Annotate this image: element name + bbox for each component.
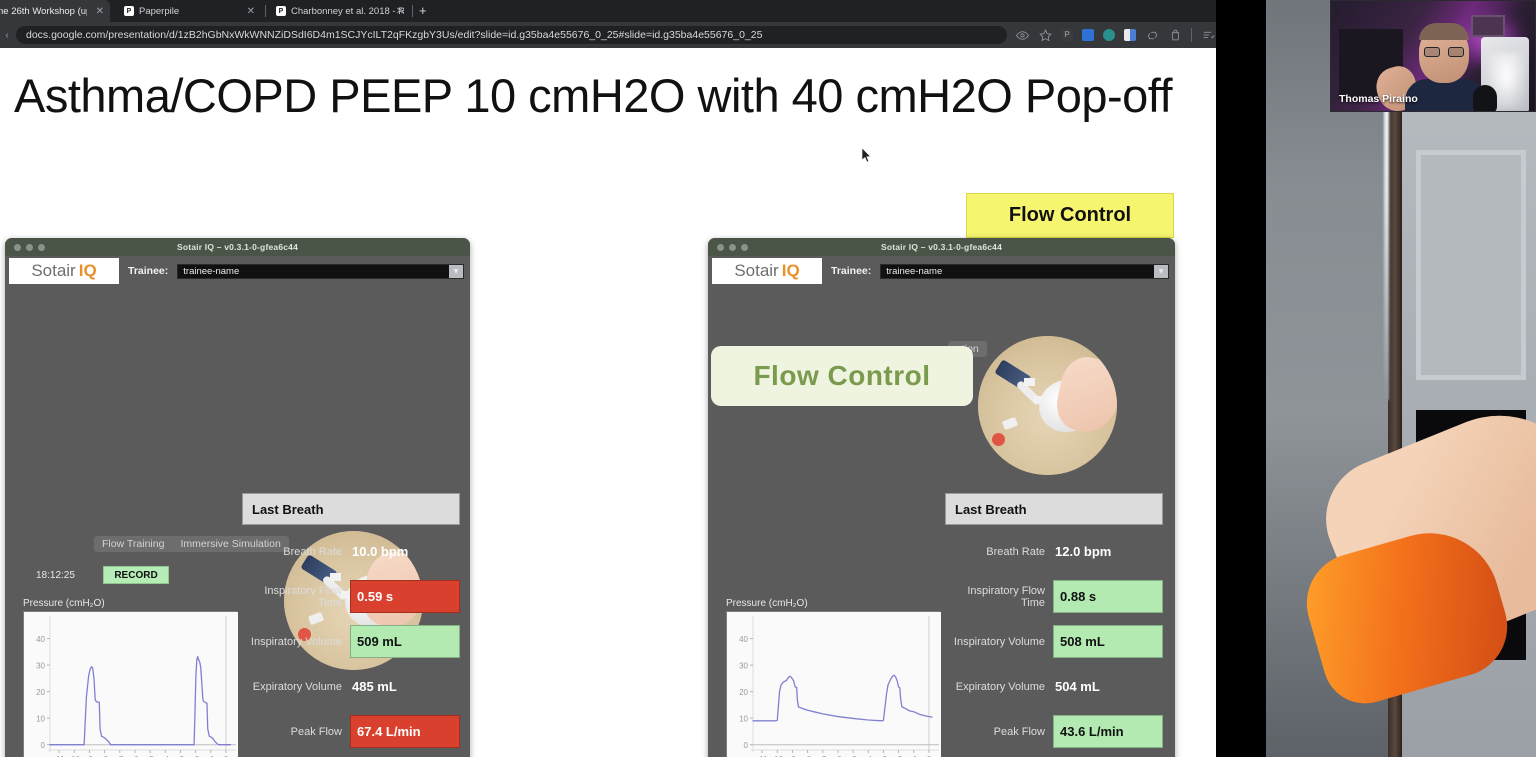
metric-row: Expiratory Volume485 mL — [242, 668, 460, 705]
metric-row: Breath Rate10.0 bpm — [242, 533, 460, 570]
svg-text:10: 10 — [739, 715, 748, 724]
browser-tab-0[interactable]: ne 26th Workshop (update ✕ — [0, 0, 110, 22]
plot-area: 010203040-11-10-9-8-7-6-5-4-3-2-10 — [23, 611, 237, 757]
svg-text:20: 20 — [739, 688, 748, 697]
metric-row: Inspiratory Volume508 mL — [945, 623, 1163, 660]
metric-row: Peak Flow43.6 L/min — [945, 713, 1163, 750]
browser-tab-2[interactable]: P Charbonney et al. 2018 - Res ✕ — [270, 0, 410, 22]
book-extension-icon[interactable] — [1124, 29, 1136, 41]
trainee-label: Trainee: — [831, 265, 871, 277]
pip-lens-left — [1424, 47, 1440, 57]
flow-control-callout: Flow Control — [966, 193, 1174, 238]
pip-wall-frame — [1471, 15, 1505, 37]
chart-left-pressure: Pressure (cmH₂O) 010203040-11-10-9-8-7-6… — [23, 598, 237, 757]
metrics-list: Breath Rate12.0 bpmInspiratory Flow Time… — [945, 533, 1163, 757]
metric-label: Peak Flow — [242, 726, 350, 738]
metric-value: 0.88 s — [1053, 580, 1163, 613]
trainee-value: trainee-name — [183, 266, 239, 277]
pip-lens-right — [1448, 47, 1464, 57]
app-toolbar: Sotair IQ Trainee: trainee-name ▾ — [708, 256, 1175, 286]
teal-extension-icon[interactable] — [1103, 29, 1115, 41]
panel-title: Last Breath — [945, 493, 1163, 525]
metric-label: Inspiratory Volume — [945, 636, 1053, 648]
flow-control-overlay: Flow Control — [711, 346, 973, 406]
eye-icon[interactable] — [1015, 28, 1029, 42]
window-titlebar: Sotair IQ – v0.3.1-0-gfea6c44 — [5, 238, 470, 256]
video-marker-2 — [1034, 396, 1043, 403]
metrics-list: Breath Rate10.0 bpmInspiratory Flow Time… — [242, 533, 460, 757]
svg-text:20: 20 — [36, 688, 45, 697]
address-input[interactable]: docs.google.com/presentation/d/1zB2hGbNx… — [16, 26, 1007, 44]
metric-value: 10.0 bpm — [350, 544, 460, 559]
metric-label: Expiratory Volume — [242, 681, 350, 693]
star-icon[interactable] — [1038, 28, 1052, 42]
metric-row: Peak Flow67.4 L/min — [242, 713, 460, 750]
svg-text:40: 40 — [739, 635, 748, 644]
pip-hair — [1419, 23, 1469, 40]
app-window-left: Sotair IQ – v0.3.1-0-gfea6c44 Sotair IQ … — [5, 238, 470, 757]
app-body: Flow Training Immersive Simulation 18:12… — [5, 286, 470, 757]
room-camera-feed — [1216, 0, 1536, 757]
metric-value: 504 mL — [1053, 679, 1163, 694]
svg-text:30: 30 — [739, 662, 748, 671]
url-text: docs.google.com/presentation/d/1zB2hGbNx… — [26, 29, 762, 41]
slide-canvas: Asthma/COPD PEEP 10 cmH2O with 40 cmH2O … — [0, 48, 1216, 757]
plot-svg: 010203040-11-10-9-8-7-6-5-4-3-2-10 — [727, 612, 941, 757]
logo-text-secondary: IQ — [782, 261, 800, 281]
callout-label: Flow Control — [1009, 204, 1131, 227]
window-title: Sotair IQ – v0.3.1-0-gfea6c44 — [708, 242, 1175, 252]
screen-root: ne 26th Workshop (update ✕ P Paperpile ✕… — [0, 0, 1536, 757]
sotair-iq-logo: Sotair IQ — [9, 258, 119, 284]
pip-microphone — [1473, 85, 1497, 112]
session-clock: 18:12:25 — [36, 570, 75, 581]
recycle-extension-icon[interactable] — [1145, 28, 1159, 42]
chart-title: Pressure (cmH₂O) — [726, 598, 940, 609]
metric-value: 67.4 L/min — [350, 715, 460, 748]
metric-row: Breath Rate12.0 bpm — [945, 533, 1163, 570]
tab-title: Paperpile — [139, 6, 179, 17]
metrics-panel-left: Last Breath Breath Rate10.0 bpmInspirato… — [242, 493, 460, 757]
bag-extension-icon[interactable] — [1168, 28, 1182, 42]
svg-text:40: 40 — [36, 635, 45, 644]
participant-video-tile[interactable]: Thomas Piraino — [1330, 0, 1536, 112]
page-title: Asthma/COPD PEEP 10 cmH2O with 40 cmH2O … — [14, 68, 1172, 123]
metric-value: 43.6 L/min — [1053, 715, 1163, 748]
window-title: Sotair IQ – v0.3.1-0-gfea6c44 — [5, 242, 470, 252]
metric-label: Expiratory Volume — [945, 681, 1053, 693]
svg-text:0: 0 — [744, 741, 749, 750]
trainee-label: Trainee: — [128, 265, 168, 277]
app-body: ation Flow Control Pressure (cmH₂O) 0102… — [708, 286, 1175, 757]
chevron-down-icon[interactable]: ▾ — [1154, 265, 1168, 278]
back-chevron-icon[interactable]: ‹ — [0, 30, 14, 41]
browser-chrome: ne 26th Workshop (update ✕ P Paperpile ✕… — [0, 0, 1269, 48]
chevron-down-icon[interactable]: ▾ — [449, 265, 463, 278]
video-marker-1 — [1024, 378, 1035, 386]
live-video-thumbnail — [978, 336, 1117, 475]
pip-glasses — [1424, 47, 1464, 57]
metric-value: 509 mL — [350, 625, 460, 658]
svg-text:0: 0 — [41, 741, 46, 750]
participant-name: Thomas Piraino — [1339, 93, 1418, 105]
paperpile-icon: P — [276, 6, 286, 16]
metric-row: Expiratory Volume504 mL — [945, 668, 1163, 705]
chart-title: Pressure (cmH₂O) — [23, 598, 237, 609]
tab-close-icon[interactable]: ✕ — [396, 6, 404, 17]
app-window-right: Sotair IQ – v0.3.1-0-gfea6c44 Sotair IQ … — [708, 238, 1175, 757]
camera-letterbox-bar — [1216, 0, 1266, 757]
paperpile-extension-icon[interactable]: P — [1061, 29, 1073, 41]
sotair-iq-logo: Sotair IQ — [712, 258, 822, 284]
url-bar: ‹ docs.google.com/presentation/d/1zB2hGb… — [0, 22, 1269, 48]
metric-value: 508 mL — [1053, 625, 1163, 658]
trainee-select[interactable]: trainee-name ▾ — [177, 264, 464, 279]
app-toolbar: Sotair IQ Trainee: trainee-name ▾ — [5, 256, 470, 286]
metric-label: Inspiratory Flow Time — [242, 585, 350, 609]
panel-title: Last Breath — [242, 493, 460, 525]
logo-text-primary: Sotair — [734, 261, 778, 281]
tab-title: Charbonney et al. 2018 - Res — [291, 6, 404, 17]
flow-control-overlay-label: Flow Control — [753, 360, 930, 392]
toolbar-divider — [1191, 28, 1192, 42]
svg-text:10: 10 — [36, 715, 45, 724]
metric-row: Inspiratory Flow Time0.88 s — [945, 578, 1163, 615]
metric-label: Inspiratory Flow Time — [945, 585, 1053, 609]
tab-flow-training[interactable]: Flow Training — [102, 538, 164, 550]
window-titlebar: Sotair IQ – v0.3.1-0-gfea6c44 — [708, 238, 1175, 256]
blue-extension-icon[interactable] — [1082, 29, 1094, 41]
metric-value: 12.0 bpm — [1053, 544, 1163, 559]
logo-text-secondary: IQ — [79, 261, 97, 281]
metric-row: Inspiratory Volume509 mL — [242, 623, 460, 660]
paperpile-icon: P — [124, 6, 134, 16]
metrics-panel-right: Last Breath Breath Rate12.0 bpmInspirato… — [945, 493, 1163, 757]
mouse-cursor-icon — [862, 148, 872, 163]
tab-title: ne 26th Workshop (update — [0, 6, 87, 17]
trainee-value: trainee-name — [886, 266, 942, 277]
tab-divider — [265, 5, 266, 17]
tab-close-icon[interactable]: ✕ — [96, 6, 104, 17]
camera-door-panel-upper — [1416, 150, 1526, 380]
tab-strip: ne 26th Workshop (update ✕ P Paperpile ✕… — [0, 0, 1269, 22]
new-tab-button[interactable]: + — [419, 3, 427, 19]
metric-label: Breath Rate — [242, 546, 350, 558]
tab-divider — [412, 5, 413, 17]
metric-row: Inspiratory Flow Time0.59 s — [242, 578, 460, 615]
reading-list-icon[interactable] — [1201, 28, 1215, 42]
browser-tab-1[interactable]: P Paperpile ✕ — [118, 0, 261, 22]
metric-value: 485 mL — [350, 679, 460, 694]
metric-value: 0.59 s — [350, 580, 460, 613]
record-button[interactable]: RECORD — [103, 566, 169, 584]
metric-label: Inspiratory Volume — [242, 636, 350, 648]
logo-text-primary: Sotair — [31, 261, 75, 281]
tab-close-icon[interactable]: ✕ — [247, 6, 255, 17]
metric-label: Breath Rate — [945, 546, 1053, 558]
chart-right-pressure: Pressure (cmH₂O) 010203040-11-10-9-8-7-6… — [726, 598, 940, 757]
svg-text:30: 30 — [36, 662, 45, 671]
plot-area: 010203040-11-10-9-8-7-6-5-4-3-2-10 — [726, 611, 940, 757]
plot-svg: 010203040-11-10-9-8-7-6-5-4-3-2-10 — [24, 612, 238, 757]
metric-label: Peak Flow — [945, 726, 1053, 738]
trainee-select[interactable]: trainee-name ▾ — [880, 264, 1169, 279]
